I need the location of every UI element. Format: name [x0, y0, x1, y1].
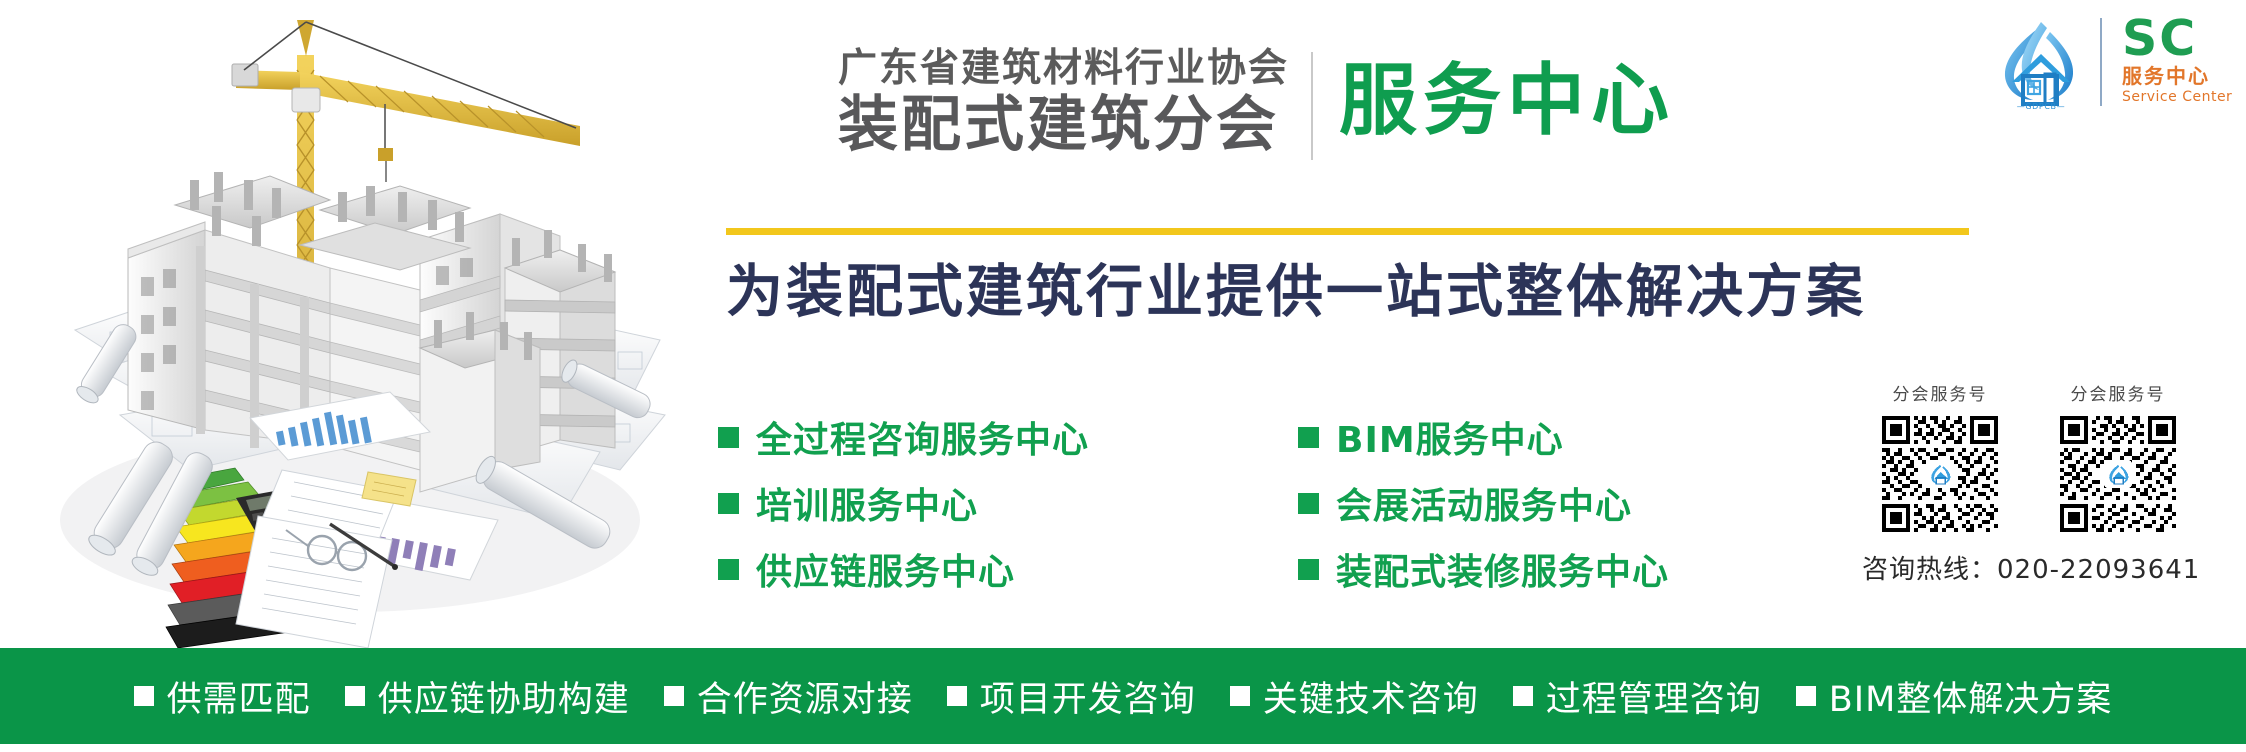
promotional-banner: 广东省建筑材料行业协会 装配式建筑分会 服务中心 为装配式建筑行业提供一站式整体…	[0, 0, 2246, 752]
qr-cell: 分会服务号	[1862, 380, 2018, 536]
association-header: 广东省建筑材料行业协会 装配式建筑分会 服务中心	[838, 46, 1675, 160]
square-bullet-icon	[1230, 686, 1250, 706]
service-item-label: 培训服务中心	[756, 477, 978, 529]
bottom-bar-item[interactable]: 供需匹配	[134, 671, 311, 722]
hotline-text: 咨询热线：020-22093641	[1862, 549, 2222, 586]
service-item-label: 会展活动服务中心	[1336, 477, 1632, 529]
svg-text:—GDPCB—: —GDPCB—	[2017, 102, 2065, 110]
qr-code-image[interactable]	[2056, 412, 2180, 536]
association-names: 广东省建筑材料行业协会 装配式建筑分会	[838, 47, 1289, 159]
square-bullet-icon	[1298, 493, 1319, 514]
brand-chinese-label: 服务中心	[2122, 64, 2232, 89]
bottom-bar-label: 供应链协助构建	[378, 671, 630, 722]
association-name-line2: 装配式建筑分会	[838, 92, 1289, 159]
bottom-bar-item[interactable]: BIM整体解决方案	[1796, 671, 2113, 722]
bottom-bar-label: 过程管理咨询	[1546, 671, 1762, 722]
gold-divider-rule	[726, 228, 1969, 235]
service-item[interactable]: BIM服务中心	[1298, 411, 1878, 463]
service-item[interactable]: 装配式装修服务中心	[1298, 543, 1878, 595]
square-bullet-icon	[134, 686, 154, 706]
qr-caption: 分会服务号	[1893, 380, 1988, 405]
qr-caption: 分会服务号	[2071, 380, 2166, 405]
service-item[interactable]: 培训服务中心	[718, 477, 1298, 529]
brand-logo-block: —GDPCB— SC 服务中心 Service Center	[1992, 14, 2232, 110]
square-bullet-icon	[947, 686, 967, 706]
bottom-bar-label: 项目开发咨询	[980, 671, 1196, 722]
header-vertical-divider	[1311, 52, 1313, 160]
main-tagline: 为装配式建筑行业提供一站式整体解决方案	[726, 258, 1866, 326]
square-bullet-icon	[345, 686, 365, 706]
square-bullet-icon	[1513, 686, 1533, 706]
service-item[interactable]: 供应链服务中心	[718, 543, 1298, 595]
bottom-bar-label: 供需匹配	[167, 671, 311, 722]
square-bullet-icon	[718, 559, 739, 580]
brand-vertical-divider	[2100, 18, 2102, 106]
service-item[interactable]: 会展活动服务中心	[1298, 477, 1878, 529]
qr-contact-block: 分会服务号	[1862, 380, 2222, 586]
bottom-bar-item[interactable]: 项目开发咨询	[947, 671, 1196, 722]
square-bullet-icon	[1796, 686, 1816, 706]
bottom-bar-item[interactable]: 合作资源对接	[664, 671, 913, 722]
service-item-label: 装配式装修服务中心	[1336, 543, 1669, 595]
square-bullet-icon	[1298, 427, 1319, 448]
square-bullet-icon	[718, 493, 739, 514]
bottom-bar-label: BIM整体解决方案	[1829, 671, 2113, 722]
bottom-bar-label: 合作资源对接	[697, 671, 913, 722]
bottom-keyword-bar: 供需匹配 供应链协助构建 合作资源对接 项目开发咨询 关键技术咨询 过程管理咨询…	[0, 648, 2246, 744]
brand-abbrev: SC	[2122, 16, 2232, 61]
square-bullet-icon	[664, 686, 684, 706]
service-centers-list: 全过程咨询服务中心 BIM服务中心 培训服务中心 会展活动服务中心 供应链服务中…	[718, 404, 1878, 602]
bottom-bar-item[interactable]: 过程管理咨询	[1513, 671, 1762, 722]
association-name-line1: 广东省建筑材料行业协会	[838, 47, 1289, 92]
brand-text-block: SC 服务中心 Service Center	[2122, 14, 2232, 106]
brand-english-label: Service Center	[2122, 89, 2232, 106]
gdpcb-flame-house-logo-icon: —GDPCB—	[1992, 14, 2090, 110]
service-item-label: BIM服务中心	[1336, 411, 1564, 463]
construction-illustration	[0, 0, 700, 648]
service-item-label: 供应链服务中心	[756, 543, 1015, 595]
bottom-bar-item[interactable]: 关键技术咨询	[1230, 671, 1479, 722]
service-item[interactable]: 全过程咨询服务中心	[718, 411, 1298, 463]
square-bullet-icon	[1298, 559, 1319, 580]
bottom-bar-label: 关键技术咨询	[1263, 671, 1479, 722]
service-center-title: 服务中心	[1339, 62, 1675, 144]
square-bullet-icon	[718, 427, 739, 448]
qr-code-image[interactable]	[1878, 412, 2002, 536]
qr-row: 分会服务号	[1862, 380, 2222, 536]
service-item-label: 全过程咨询服务中心	[756, 411, 1089, 463]
bottom-bar-item[interactable]: 供应链协助构建	[345, 671, 630, 722]
qr-cell: 分会服务号	[2040, 380, 2196, 536]
